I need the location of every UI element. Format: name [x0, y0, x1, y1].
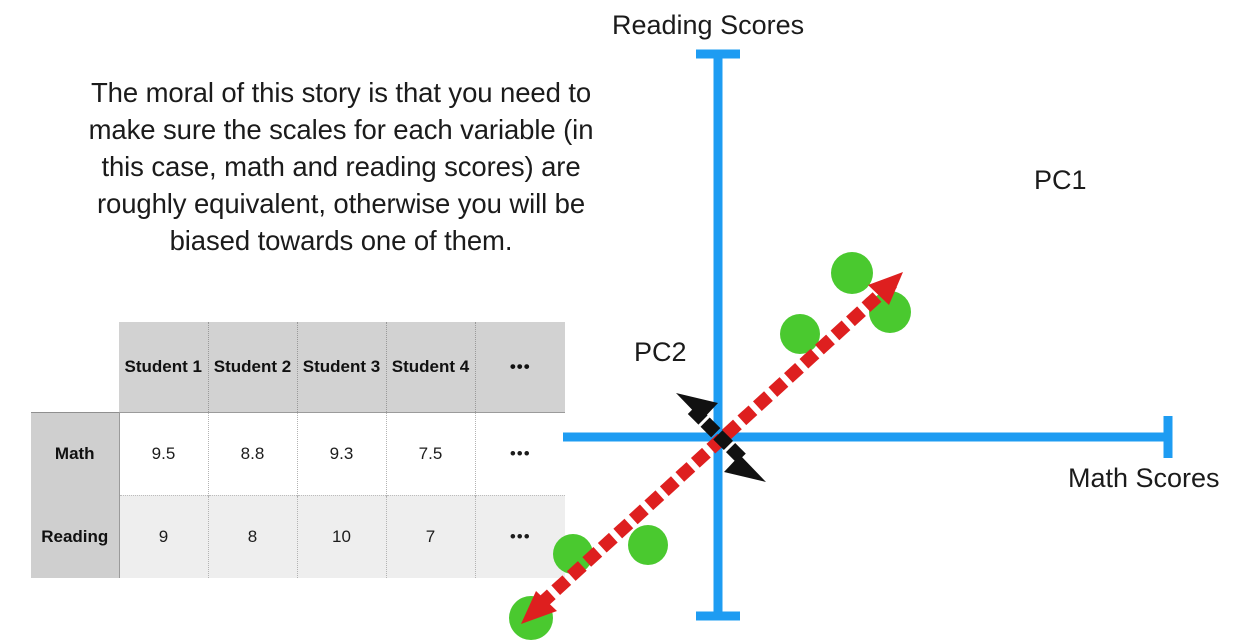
- table-corner-cell: [31, 322, 119, 412]
- pc2-dashed-line: [697, 414, 745, 462]
- cell-math-student-1: 9.5: [119, 412, 208, 495]
- pc2-label: PC2: [634, 337, 687, 368]
- cell-reading-student-2: 8: [208, 495, 297, 578]
- column-header-student-3: Student 3: [297, 322, 386, 412]
- table-row-math: Math 9.5 8.8 9.3 7.5 •••: [31, 412, 565, 495]
- cell-reading-student-1: 9: [119, 495, 208, 578]
- row-header-reading: Reading: [31, 495, 119, 578]
- pc2-vector: [676, 393, 766, 482]
- data-point: [509, 596, 553, 640]
- math-axis: [563, 416, 1172, 458]
- math-axis-label: Math Scores: [1068, 463, 1220, 494]
- table-header-row: Student 1 Student 2 Student 3 Student 4 …: [31, 322, 565, 412]
- row-header-math: Math: [31, 412, 119, 495]
- scores-table: Student 1 Student 2 Student 3 Student 4 …: [31, 322, 565, 578]
- reading-axis: [696, 50, 740, 620]
- cell-reading-ellipsis: •••: [475, 495, 565, 578]
- data-point: [831, 252, 873, 294]
- pc1-label: PC1: [1034, 165, 1087, 196]
- column-header-student-1: Student 1: [119, 322, 208, 412]
- cell-reading-student-3: 10: [297, 495, 386, 578]
- pca-scaling-slide: The moral of this story is that you need…: [0, 0, 1254, 644]
- data-point: [628, 525, 668, 565]
- data-point: [869, 291, 911, 333]
- moral-paragraph: The moral of this story is that you need…: [72, 74, 610, 259]
- column-header-student-2: Student 2: [208, 322, 297, 412]
- pc2-arrowhead-lower-right: [724, 455, 766, 482]
- cell-math-student-3: 9.3: [297, 412, 386, 495]
- column-header-student-4: Student 4: [386, 322, 475, 412]
- table-row-reading: Reading 9 8 10 7 •••: [31, 495, 565, 578]
- reading-axis-label: Reading Scores: [612, 10, 804, 41]
- cell-math-student-2: 8.8: [208, 412, 297, 495]
- cell-reading-student-4: 7: [386, 495, 475, 578]
- pc1-dotted-line: [545, 287, 888, 600]
- pc1-vector: [521, 272, 903, 624]
- cell-math-student-4: 7.5: [386, 412, 475, 495]
- pc1-arrowhead-lower: [521, 591, 557, 624]
- pc2-arrowhead-upper-left: [676, 393, 718, 420]
- cell-math-ellipsis: •••: [475, 412, 565, 495]
- pc1-arrowhead-upper: [868, 272, 903, 305]
- data-point: [780, 314, 820, 354]
- column-header-ellipsis: •••: [475, 322, 565, 412]
- data-points: [509, 252, 911, 640]
